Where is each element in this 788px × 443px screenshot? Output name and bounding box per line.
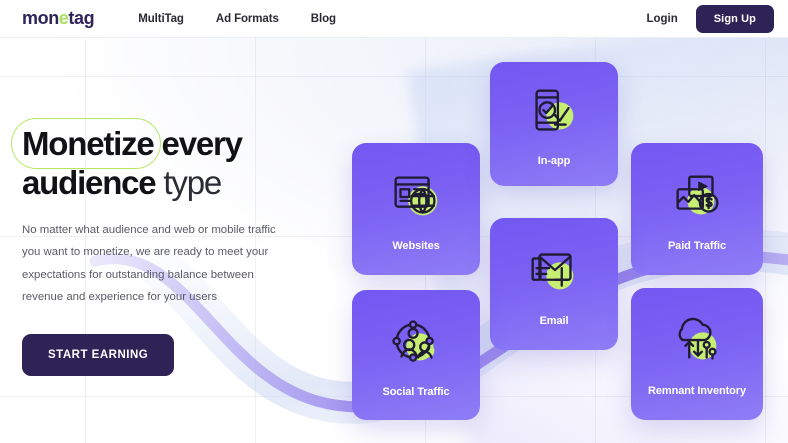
card-remnant-inventory[interactable]: Remnant Inventory: [631, 288, 763, 420]
media-dollar-icon: [666, 166, 728, 228]
card-email[interactable]: Email: [490, 218, 618, 350]
card-label-remnant-inventory: Remnant Inventory: [648, 385, 746, 397]
network-people-icon: [385, 312, 447, 374]
logo-text-part2: tag: [68, 8, 94, 29]
card-label-inapp: In-app: [538, 155, 570, 167]
site-header: monetag MultiTag Ad Formats Blog Login S…: [0, 0, 788, 38]
phone-check-icon: [523, 81, 585, 143]
logo-text-part1: mon: [22, 8, 59, 29]
card-websites[interactable]: Websites: [352, 143, 480, 275]
card-social-traffic[interactable]: Social Traffic: [352, 290, 480, 420]
login-link[interactable]: Login: [646, 13, 677, 25]
audience-type-cards: Websites In-app: [0, 0, 788, 443]
nav-item-ad-formats[interactable]: Ad Formats: [216, 13, 279, 25]
cloud-arrows-icon: [666, 311, 728, 373]
card-paid-traffic[interactable]: Paid Traffic: [631, 143, 763, 275]
card-label-paid-traffic: Paid Traffic: [668, 240, 726, 252]
logo[interactable]: monetag: [22, 8, 94, 29]
card-inapp[interactable]: In-app: [490, 62, 618, 186]
main-nav: MultiTag Ad Formats Blog: [138, 13, 336, 25]
nav-item-multitag[interactable]: MultiTag: [138, 13, 184, 25]
card-label-websites: Websites: [392, 240, 439, 252]
signup-button[interactable]: Sign Up: [696, 5, 774, 33]
envelope-icon: [523, 241, 585, 303]
card-label-social-traffic: Social Traffic: [382, 386, 449, 398]
browser-globe-icon: [385, 166, 447, 228]
header-actions: Login Sign Up: [646, 5, 774, 33]
card-label-email: Email: [540, 315, 569, 327]
logo-text-accent-e: e: [59, 8, 69, 29]
page-root: monetag MultiTag Ad Formats Blog Login S…: [0, 0, 788, 443]
nav-item-blog[interactable]: Blog: [311, 13, 336, 25]
